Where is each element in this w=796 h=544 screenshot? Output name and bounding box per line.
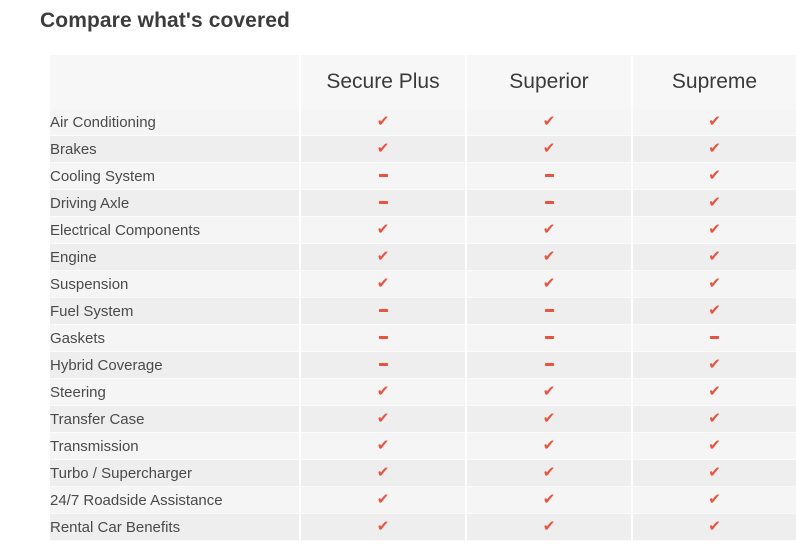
coverage-cell-secure-plus: ✔ — [300, 271, 466, 298]
dash-icon — [379, 174, 388, 177]
coverage-cell-secure-plus — [300, 298, 466, 325]
table-row: Rental Car Benefits✔✔✔ — [50, 514, 796, 541]
coverage-cell-superior: ✔ — [466, 109, 632, 136]
check-icon: ✔ — [708, 222, 721, 237]
table-row: 24/7 Roadside Assistance✔✔✔ — [50, 487, 796, 514]
coverage-cell-superior: ✔ — [466, 460, 632, 487]
feature-label: Hybrid Coverage — [50, 352, 300, 379]
check-icon: ✔ — [377, 384, 390, 399]
column-header-feature — [50, 55, 300, 109]
page-title: Compare what's covered — [40, 9, 290, 33]
dash-icon — [379, 336, 388, 339]
coverage-cell-superior — [466, 325, 632, 352]
coverage-cell-superior: ✔ — [466, 487, 632, 514]
check-icon: ✔ — [377, 519, 390, 534]
feature-label: 24/7 Roadside Assistance — [50, 487, 300, 514]
coverage-cell-supreme: ✔ — [632, 244, 796, 271]
coverage-cell-secure-plus: ✔ — [300, 487, 466, 514]
coverage-cell-secure-plus — [300, 163, 466, 190]
dash-icon — [379, 201, 388, 204]
coverage-cell-supreme: ✔ — [632, 406, 796, 433]
dash-icon — [710, 336, 719, 339]
coverage-cell-superior — [466, 352, 632, 379]
coverage-comparison-page: Compare what's covered Secure Plus Super… — [0, 0, 796, 544]
table-row: Transmission✔✔✔ — [50, 433, 796, 460]
check-icon: ✔ — [377, 438, 390, 453]
table-row: Cooling System✔ — [50, 163, 796, 190]
check-icon: ✔ — [708, 303, 721, 318]
check-icon: ✔ — [708, 114, 721, 129]
column-header-secure-plus: Secure Plus — [300, 55, 466, 109]
check-icon: ✔ — [377, 222, 390, 237]
table-row: Turbo / Supercharger✔✔✔ — [50, 460, 796, 487]
coverage-cell-superior: ✔ — [466, 271, 632, 298]
feature-label: Air Conditioning — [50, 109, 300, 136]
table-row: Air Conditioning✔✔✔ — [50, 109, 796, 136]
table-row: Driving Axle✔ — [50, 190, 796, 217]
coverage-cell-secure-plus: ✔ — [300, 460, 466, 487]
feature-label: Suspension — [50, 271, 300, 298]
feature-label: Steering — [50, 379, 300, 406]
coverage-cell-supreme: ✔ — [632, 379, 796, 406]
check-icon: ✔ — [708, 411, 721, 426]
check-icon: ✔ — [543, 222, 556, 237]
feature-label: Brakes — [50, 136, 300, 163]
check-icon: ✔ — [708, 249, 721, 264]
coverage-cell-superior: ✔ — [466, 406, 632, 433]
coverage-cell-superior: ✔ — [466, 244, 632, 271]
check-icon: ✔ — [543, 465, 556, 480]
check-icon: ✔ — [543, 276, 556, 291]
coverage-cell-supreme: ✔ — [632, 136, 796, 163]
dash-icon — [545, 309, 554, 312]
column-header-superior: Superior — [466, 55, 632, 109]
feature-label: Rental Car Benefits — [50, 514, 300, 541]
table-row: Hybrid Coverage✔ — [50, 352, 796, 379]
feature-label: Cooling System — [50, 163, 300, 190]
coverage-cell-supreme: ✔ — [632, 271, 796, 298]
dash-icon — [545, 363, 554, 366]
check-icon: ✔ — [543, 411, 556, 426]
coverage-cell-secure-plus: ✔ — [300, 379, 466, 406]
check-icon: ✔ — [708, 195, 721, 210]
coverage-cell-supreme: ✔ — [632, 460, 796, 487]
table-row: Engine✔✔✔ — [50, 244, 796, 271]
check-icon: ✔ — [708, 465, 721, 480]
table-header: Secure Plus Superior Supreme — [50, 55, 796, 109]
feature-label: Engine — [50, 244, 300, 271]
coverage-cell-secure-plus: ✔ — [300, 136, 466, 163]
table-row: Suspension✔✔✔ — [50, 271, 796, 298]
dash-icon — [379, 309, 388, 312]
table-row: Electrical Components✔✔✔ — [50, 217, 796, 244]
coverage-cell-superior — [466, 190, 632, 217]
dash-icon — [545, 336, 554, 339]
check-icon: ✔ — [543, 249, 556, 264]
feature-label: Electrical Components — [50, 217, 300, 244]
coverage-cell-secure-plus: ✔ — [300, 244, 466, 271]
check-icon: ✔ — [708, 168, 721, 183]
coverage-cell-supreme: ✔ — [632, 487, 796, 514]
coverage-cell-supreme: ✔ — [632, 109, 796, 136]
coverage-cell-supreme: ✔ — [632, 352, 796, 379]
check-icon: ✔ — [543, 114, 556, 129]
coverage-cell-superior: ✔ — [466, 379, 632, 406]
table-row: Transfer Case✔✔✔ — [50, 406, 796, 433]
coverage-cell-supreme — [632, 325, 796, 352]
coverage-cell-superior: ✔ — [466, 136, 632, 163]
feature-label: Transfer Case — [50, 406, 300, 433]
check-icon: ✔ — [543, 519, 556, 534]
check-icon: ✔ — [377, 465, 390, 480]
header-row: Secure Plus Superior Supreme — [50, 55, 796, 109]
dash-icon — [379, 363, 388, 366]
coverage-cell-supreme: ✔ — [632, 190, 796, 217]
coverage-cell-superior — [466, 298, 632, 325]
coverage-cell-secure-plus — [300, 325, 466, 352]
coverage-cell-secure-plus: ✔ — [300, 109, 466, 136]
check-icon: ✔ — [708, 276, 721, 291]
check-icon: ✔ — [708, 141, 721, 156]
coverage-cell-secure-plus: ✔ — [300, 406, 466, 433]
check-icon: ✔ — [543, 492, 556, 507]
coverage-cell-supreme: ✔ — [632, 163, 796, 190]
feature-label: Gaskets — [50, 325, 300, 352]
check-icon: ✔ — [708, 384, 721, 399]
check-icon: ✔ — [543, 384, 556, 399]
table-row: Fuel System✔ — [50, 298, 796, 325]
coverage-cell-superior — [466, 163, 632, 190]
coverage-cell-supreme: ✔ — [632, 433, 796, 460]
check-icon: ✔ — [377, 249, 390, 264]
dash-icon — [545, 174, 554, 177]
feature-label: Turbo / Supercharger — [50, 460, 300, 487]
coverage-cell-secure-plus: ✔ — [300, 433, 466, 460]
check-icon: ✔ — [377, 276, 390, 291]
check-icon: ✔ — [377, 492, 390, 507]
coverage-cell-supreme: ✔ — [632, 298, 796, 325]
check-icon: ✔ — [543, 141, 556, 156]
table-row: Steering✔✔✔ — [50, 379, 796, 406]
coverage-cell-supreme: ✔ — [632, 217, 796, 244]
table-row: Brakes✔✔✔ — [50, 136, 796, 163]
column-header-supreme: Supreme — [632, 55, 796, 109]
coverage-comparison-table: Secure Plus Superior Supreme Air Conditi… — [50, 55, 796, 541]
check-icon: ✔ — [543, 438, 556, 453]
table-body: Air Conditioning✔✔✔Brakes✔✔✔Cooling Syst… — [50, 109, 796, 541]
coverage-cell-superior: ✔ — [466, 433, 632, 460]
check-icon: ✔ — [708, 357, 721, 372]
table-row: Gaskets — [50, 325, 796, 352]
coverage-cell-supreme: ✔ — [632, 514, 796, 541]
check-icon: ✔ — [377, 141, 390, 156]
feature-label: Fuel System — [50, 298, 300, 325]
feature-label: Driving Axle — [50, 190, 300, 217]
check-icon: ✔ — [377, 411, 390, 426]
coverage-cell-secure-plus — [300, 352, 466, 379]
coverage-cell-superior: ✔ — [466, 217, 632, 244]
coverage-cell-secure-plus: ✔ — [300, 514, 466, 541]
check-icon: ✔ — [708, 438, 721, 453]
check-icon: ✔ — [708, 519, 721, 534]
coverage-cell-superior: ✔ — [466, 514, 632, 541]
dash-icon — [545, 201, 554, 204]
feature-label: Transmission — [50, 433, 300, 460]
coverage-cell-secure-plus: ✔ — [300, 217, 466, 244]
check-icon: ✔ — [377, 114, 390, 129]
coverage-cell-secure-plus — [300, 190, 466, 217]
check-icon: ✔ — [708, 492, 721, 507]
